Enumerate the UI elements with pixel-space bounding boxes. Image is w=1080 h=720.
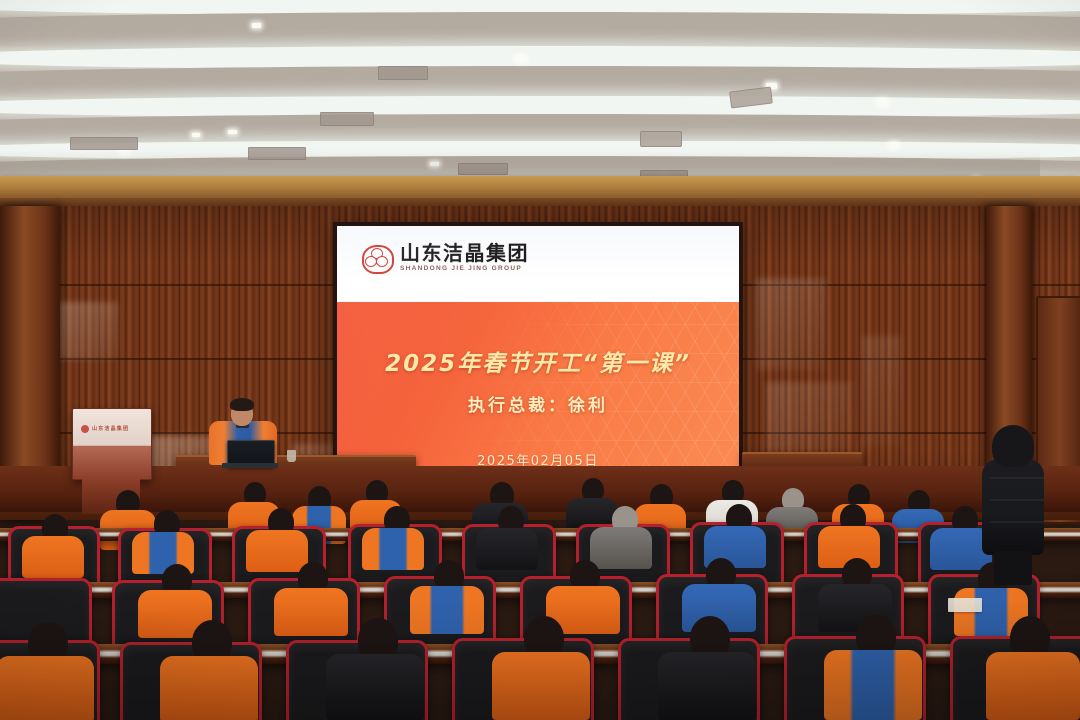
auditorium-scene: 山东洁晶集团 SHANDONG JIE JING GROUP 2025年春节开工…: [0, 0, 1080, 720]
attendee-torso: [492, 652, 590, 720]
attendee-torso: [246, 530, 308, 572]
ceiling-downlight: [228, 130, 237, 134]
speaker-hair: [230, 398, 254, 411]
ceiling-downlight: [192, 133, 200, 137]
podium-brand-label: 山东洁晶集团: [92, 425, 129, 432]
attendee-torso: [824, 650, 922, 720]
puffer-jacket: [982, 459, 1044, 555]
attendee-torso: [410, 586, 484, 634]
attendee-torso: [658, 652, 756, 720]
attendee-torso: [274, 588, 348, 636]
slide-brand-lockup: 山东洁晶集团 SHANDONG JIE JING GROUP: [361, 243, 529, 273]
attendee-torso: [160, 656, 258, 720]
ceiling-downlight: [878, 100, 887, 105]
attendee-torso: [22, 536, 84, 578]
projection-screen[interactable]: 山东洁晶集团 SHANDONG JIE JING GROUP 2025年春节开工…: [333, 222, 743, 474]
attendee-torso: [326, 654, 424, 720]
ceiling-downlight: [890, 143, 898, 147]
audience-area: [0, 470, 1080, 720]
standing-attendee: [978, 425, 1046, 585]
ceiling-vent: [320, 112, 374, 126]
attendee-torso: [590, 527, 652, 569]
brand-name-en: SHANDONG JIE JING GROUP: [400, 266, 529, 273]
ceiling-vent: [378, 66, 428, 80]
slide-title: 2025年春节开工“第一课”: [337, 344, 739, 378]
attendee-torso: [362, 528, 424, 570]
notebook[interactable]: [948, 598, 982, 612]
laptop-base: [222, 463, 278, 468]
attendee-torso: [0, 656, 94, 720]
ceiling-vent: [70, 137, 138, 150]
standing-attendee-legs: [994, 551, 1032, 585]
wall-cornice: [0, 176, 1080, 198]
attendee-torso: [476, 528, 538, 570]
attendee-torso: [986, 652, 1080, 720]
standing-attendee-head: [992, 425, 1034, 467]
podium-brand: 山东洁晶集团: [81, 423, 143, 434]
slide-presenter: 执行总裁：徐利: [337, 391, 739, 416]
cup: [287, 450, 296, 462]
brand-name-cn: 山东洁晶集团: [400, 243, 529, 263]
ceiling-projector-mount-icon: [640, 131, 682, 147]
ceiling-downlight: [252, 23, 261, 28]
podium-emblem-icon: [81, 425, 89, 433]
ceiling-downlight: [516, 56, 526, 61]
presentation-slide: 山东洁晶集团 SHANDONG JIE JING GROUP 2025年春节开工…: [337, 226, 739, 470]
jiejing-emblem-icon: [361, 245, 391, 271]
